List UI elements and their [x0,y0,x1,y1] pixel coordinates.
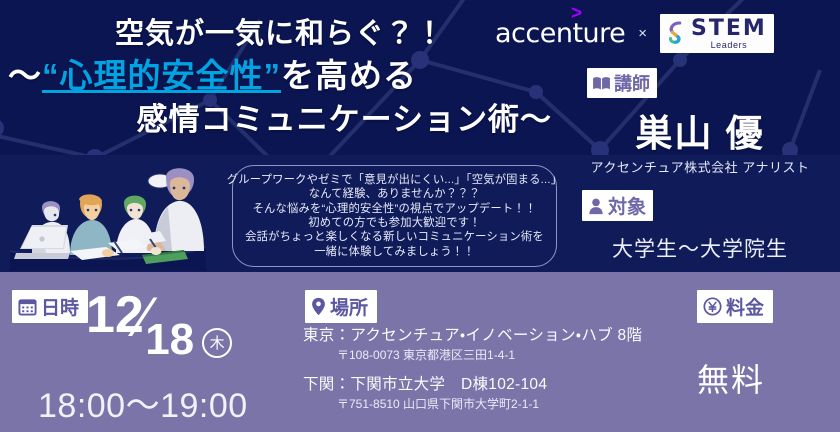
speaker-badge-label: 講師 [614,70,650,96]
venue-1-address: 〒108-0073 東京都港区三田1-4-1 [303,346,693,365]
title-line-1: 空気が一気に和らぐ？！ [0,14,560,54]
speaker-badge: 講師 [587,68,657,98]
illus-laptop [14,225,70,259]
description-line-5: 会話がちょっと楽しくなる新しいコミュニケーション術を [245,230,544,244]
title-line-2-prefix: 〜 [8,57,42,94]
event-date: 12⁄18木 [86,289,232,346]
person-icon [587,197,605,215]
logo-row: accenture > × STEM Leaders [495,14,774,53]
illus-person-2 [70,194,112,255]
description-line-3: そんな悩みを“心理的安全性”の視点でアップデート！！ [253,202,537,216]
target-value: 大学生〜大学院生 [560,233,840,263]
event-poster: 空気が一気に和らぐ？！ 〜“心理的安全性”を高める 感情コミュニケーション術〜 … [0,0,840,432]
logo-separator-x: × [638,25,647,42]
stem-wordmark: STEM [691,18,767,40]
group-work-illustration [8,163,223,271]
fee-badge-label: 料金 [726,293,764,320]
title-highlight-psychological-safety: “心理的安全性” [42,57,281,94]
venue-2-address: 〒751-8510 山口県下関市大学町2-1-1 [303,395,693,414]
event-day-of-week: 木 [202,328,232,358]
title-line-2-suffix: を高める [281,57,417,94]
accenture-greater-than-icon: > [571,4,582,23]
place-badge-label: 場所 [330,293,368,320]
event-day: 18 [145,315,194,364]
description-bubble: グループワークやゼミで「意見が出にくい...」「空気が固まる...」 なんて経験… [232,165,557,267]
book-icon [592,76,611,91]
datetime-badge: 日時 [12,290,88,323]
description-line-2: なんて経験、ありませんか？？？ [309,187,481,201]
description-line-4: 初めての方でも参加大歓迎です！ [308,216,480,230]
place-badge: 場所 [305,290,377,323]
fee-value: 無料 [697,355,817,401]
stem-leaders-text: STEM Leaders [691,18,767,50]
venue-1-name: 東京：アクセンチュア・イノベーション・ハブ 8階 [303,325,693,346]
stem-s-mark-icon [665,19,687,49]
event-month: 12 [86,286,144,344]
accenture-wordmark: accenture [495,20,625,47]
poster-title: 空気が一気に和らぐ？！ 〜“心理的安全性”を高める 感情コミュニケーション術〜 [0,14,560,142]
target-badge: 対象 [582,190,653,221]
fee-badge: 料金 [697,290,773,323]
calendar-icon [18,297,37,316]
description-line-1: グループワークやゼミで「意見が出にくい...」「空気が固まる...」 [227,173,562,187]
accenture-logo: accenture > [495,20,625,47]
title-line-3: 感情コミュニケーション術〜 [0,98,560,142]
speaker-role: アクセンチュア株式会社 アナリスト [560,157,840,176]
venue-2-name: 下関：下関市立大学 D棟102-104 [303,374,693,395]
stem-leaders-logo: STEM Leaders [660,14,774,53]
title-line-2: 〜“心理的安全性”を高める [0,54,560,98]
target-badge-label: 対象 [608,192,646,219]
speaker-name: 巣山 優 [560,103,840,157]
yen-coin-icon [703,297,722,316]
map-pin-icon [311,297,326,316]
place-list: 東京：アクセンチュア・イノベーション・ハブ 8階 〒108-0073 東京都港区… [303,325,693,414]
datetime-badge-label: 日時 [41,293,79,320]
event-time: 18:00〜19:00 [38,378,248,427]
description-line-6: 一緒に体験してみましょう！！ [314,245,475,259]
stem-subtitle: Leaders [711,41,748,50]
